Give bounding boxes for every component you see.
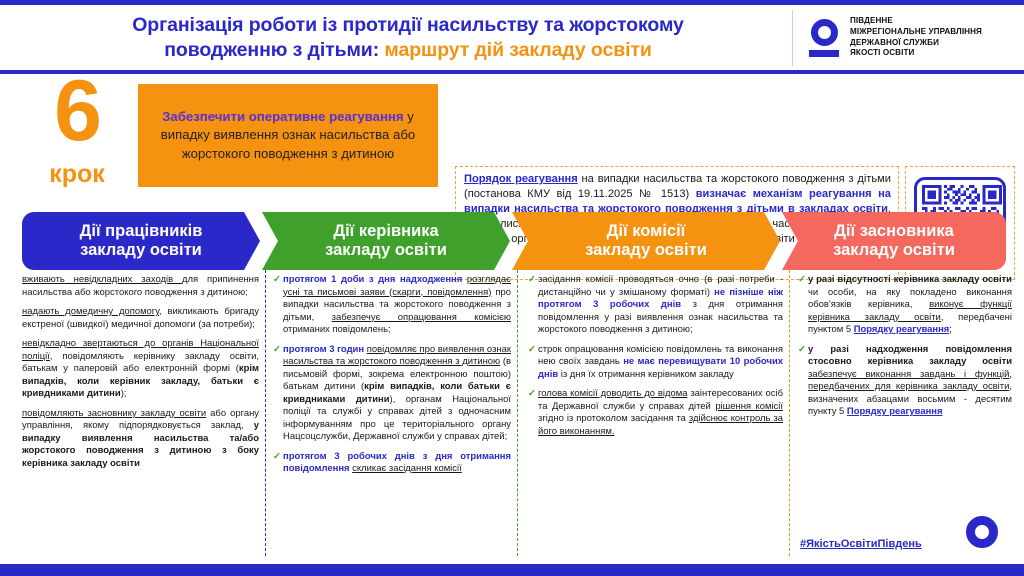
emphasis-underline: рішення комісії: [715, 401, 783, 412]
column-body-4: ✓у разі відсутності керівника закладу ос…: [790, 270, 1018, 556]
list-item-text: засідання комісії проводяться очно (в ра…: [538, 274, 783, 337]
text-run: із дня їх отримання керівником закладу: [558, 369, 734, 380]
list-item-text: невідкладно звертаються до органів Націо…: [22, 338, 259, 401]
list-item-text: протягом 3 робочих днів з дня отримання …: [283, 451, 511, 476]
logo-line-3: ДЕРЖАВНОЇ СЛУЖБИ: [850, 38, 982, 49]
list-item: повідомляють засновнику закладу освіти а…: [22, 408, 259, 471]
footer-bar: [0, 564, 1024, 576]
columns-body: вживають невідкладних заходів для припин…: [0, 270, 1024, 556]
check-icon: ✓: [798, 274, 808, 337]
column-header-3-line2: закладу освіти: [585, 241, 707, 260]
check-icon: ✓: [528, 274, 538, 337]
step-callout-highlight: Забезпечити оперативне реагування: [162, 109, 403, 124]
column-header-1-line1: Дії працівників: [80, 222, 203, 241]
ring-icon: [811, 19, 838, 46]
poryadok-reaguvannya-link[interactable]: Порядку реагування: [847, 406, 943, 417]
page-title: Організація роботи із протидії насильств…: [0, 13, 792, 63]
step-callout: Забезпечити оперативне реагування у випа…: [138, 84, 438, 187]
footer-ring-icon: [966, 516, 998, 548]
list-item: ✓протягом 3 робочих днів з дня отримання…: [273, 451, 511, 476]
column-body-1: вживають невідкладних заходів для припин…: [18, 270, 266, 556]
list-item-text: повідомляють засновнику закладу освіти а…: [22, 408, 259, 471]
list-item: невідкладно звертаються до органів Націо…: [22, 338, 259, 401]
list-item-text: у разі відсутності керівника закладу осв…: [808, 274, 1012, 337]
organization-logo: ПІВДЕННЕ МІЖРЕГІОНАЛЬНЕ УПРАВЛІННЯ ДЕРЖА…: [792, 10, 1024, 66]
list-item-text: протягом 3 годин повідомляє про виявленн…: [283, 344, 511, 444]
logo-line-2: МІЖРЕГІОНАЛЬНЕ УПРАВЛІННЯ: [850, 27, 982, 38]
step-word: крок: [22, 162, 132, 187]
list-item-text: у разі надходження повідомлення стосовно…: [808, 344, 1012, 419]
column-header-2-line2: закладу освіти: [325, 241, 447, 260]
column-header-3[interactable]: Дії комісії закладу освіти: [512, 212, 780, 270]
list-item: ✓засідання комісії проводяться очно (в р…: [528, 274, 783, 337]
page-title-line2-accent: маршрут дій закладу освіти: [384, 39, 651, 61]
check-icon: ✓: [798, 344, 808, 419]
check-icon: ✓: [528, 388, 538, 438]
text-run: );: [121, 388, 127, 399]
list-item-text: строк опрацювання комісією повідомлень т…: [538, 344, 783, 382]
column-header-4-line2: закладу освіти: [833, 241, 955, 260]
column-header-3-line1: Дії комісії: [585, 222, 707, 241]
check-icon: ✓: [273, 344, 283, 444]
column-header-4-line1: Дії засновника: [833, 222, 955, 241]
emphasis-bold-blue: протягом 1 доби з дня надходження: [283, 274, 467, 285]
poryadok-link[interactable]: Порядок реагування: [464, 173, 578, 185]
emphasis-underline: вживають невідкладних заходів: [22, 274, 182, 285]
text-run: згідно із протоколом засідання та: [538, 413, 689, 424]
emphasis-underline: скликає засідання комісії: [352, 463, 462, 474]
logo-line-1: ПІВДЕННЕ: [850, 16, 982, 27]
text-run: ;: [949, 324, 952, 335]
bar-icon: [809, 50, 839, 57]
list-item-text: голова комісії доводить до відома заінте…: [538, 388, 783, 438]
column-header-2[interactable]: Дії керівника закладу освіти: [262, 212, 510, 270]
check-icon: ✓: [273, 451, 283, 476]
list-item-text: вживають невідкладних заходів для припин…: [22, 274, 259, 299]
emphasis-underline: забезпечує опрацювання комісією: [332, 312, 511, 323]
page-title-line2: поводженню з дітьми: маршрут дій закладу…: [24, 38, 792, 63]
column-header-4[interactable]: Дії засновника закладу освіти: [782, 212, 1006, 270]
page-header: Організація роботи із протидії насильств…: [0, 0, 1024, 74]
emphasis-underline: забезпечує виконання завдань і функцій, …: [808, 369, 1012, 393]
list-item: ✓у разі надходження повідомлення стосовн…: [798, 344, 1012, 419]
hashtag-link[interactable]: #ЯкістьОсвітиПівдень: [800, 538, 922, 550]
emphasis-underline: голова комісії доводить до відома: [538, 388, 687, 399]
poryadok-reaguvannya-link[interactable]: Порядку реагування: [854, 324, 950, 335]
list-item: ✓голова комісії доводить до відома заінт…: [528, 388, 783, 438]
emphasis-underline: повідомляють засновнику закладу освіти: [22, 408, 206, 419]
emphasis-underline: надають домедичну допомогу: [22, 306, 159, 317]
list-item: ✓у разі відсутності керівника закладу ос…: [798, 274, 1012, 337]
logo-line-4: ЯКОСТІ ОСВІТИ: [850, 48, 982, 59]
emphasis-bold-blue: протягом 3 годин: [283, 344, 367, 355]
logo-mark-icon: [807, 19, 841, 57]
check-icon: ✓: [273, 274, 283, 337]
logo-text: ПІВДЕННЕ МІЖРЕГІОНАЛЬНЕ УПРАВЛІННЯ ДЕРЖА…: [850, 16, 982, 59]
list-item: ✓протягом 1 доби з дня надходження розгл…: [273, 274, 511, 337]
text-run: , повідомляють керівнику закладу освіти,…: [22, 351, 259, 375]
step-section: 6 крок Забезпечити оперативне реагування…: [0, 78, 1024, 206]
column-body-3: ✓засідання комісії проводяться очно (в р…: [518, 270, 790, 556]
text-run: отриманих повідомлень;: [283, 324, 391, 335]
column-header-2-line1: Дії керівника: [325, 222, 447, 241]
step-number: 6: [22, 74, 132, 150]
list-item: надають домедичну допомогу, викликають б…: [22, 306, 259, 331]
page-title-line2-plain: поводженню з дітьми:: [164, 39, 384, 61]
column-header-1[interactable]: Дії працівників закладу освіти: [22, 212, 260, 270]
column-header-band: Дії працівників закладу освіти Дії керів…: [0, 212, 1024, 270]
list-item-text: протягом 1 доби з дня надходження розгля…: [283, 274, 511, 337]
check-icon: ✓: [528, 344, 538, 382]
list-item: ✓строк опрацювання комісією повідомлень …: [528, 344, 783, 382]
list-item: вживають невідкладних заходів для припин…: [22, 274, 259, 299]
page-title-line1: Організація роботи із протидії насильств…: [24, 13, 792, 38]
emphasis-bold: у разі надходження повідомлення стосовно…: [808, 344, 1012, 368]
emphasis-bold: у разі відсутності керівника закладу осв…: [808, 274, 1012, 285]
list-item-text: надають домедичну допомогу, викликають б…: [22, 306, 259, 331]
column-body-2: ✓протягом 1 доби з дня надходження розгл…: [266, 270, 518, 556]
list-item: ✓протягом 3 годин повідомляє про виявлен…: [273, 344, 511, 444]
column-header-1-line2: закладу освіти: [80, 241, 203, 260]
